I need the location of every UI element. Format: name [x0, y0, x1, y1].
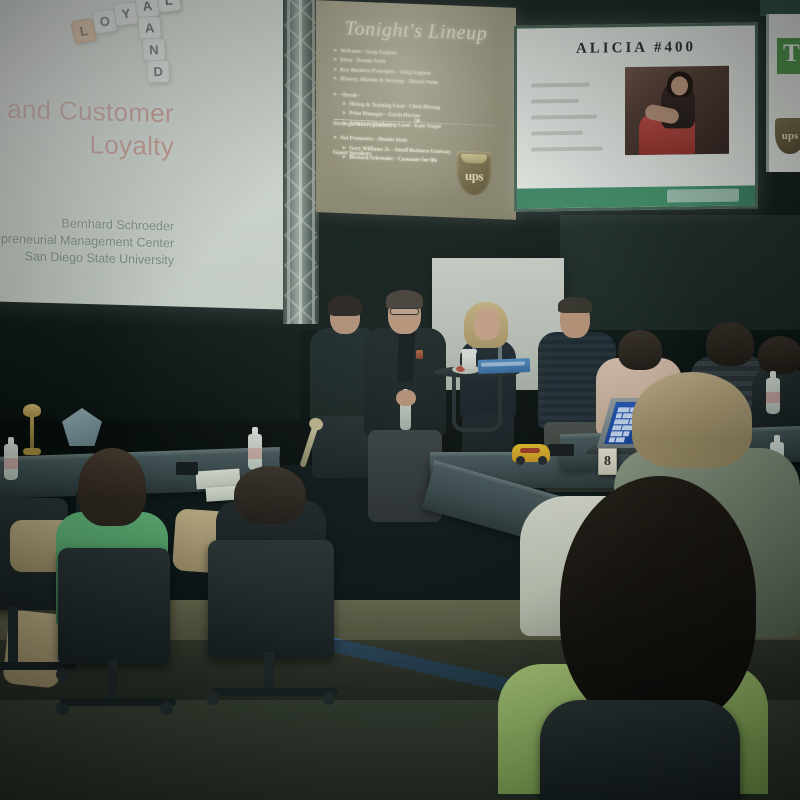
chair-caster: [56, 668, 69, 681]
chair-caster: [56, 702, 69, 715]
projection-screen-lineup-slide: Tonight's Lineup ➤Welcome - Greg Gagnon …: [316, 0, 516, 220]
toy-car-stripe: [520, 448, 540, 453]
eyeglasses-icon: [390, 308, 419, 315]
snack-box: [478, 358, 530, 374]
alicia-slide-footer-bar: [517, 185, 755, 208]
attendee-hair: [706, 322, 754, 366]
truss-shading: [283, 0, 319, 324]
chair-post: [108, 660, 118, 702]
green-logo-box: T: [777, 38, 800, 74]
coffee-cup: [462, 352, 476, 369]
grey-shirt-hair: [632, 372, 752, 468]
chair-caster: [322, 692, 335, 705]
panelist-2-hair: [386, 290, 423, 309]
alicia-photo: [625, 66, 729, 155]
dark-jacket-hair: [234, 466, 306, 524]
brass-lamp: [22, 404, 42, 456]
lamp-base: [23, 448, 41, 455]
title-slide-heading: and Customer Loyalty: [0, 89, 180, 163]
lamp-stem: [30, 416, 34, 448]
bottle-label: [4, 458, 18, 469]
projection-screen-right-partial: T ups: [766, 14, 800, 172]
alicia-slide-title: ALICIA #400: [517, 38, 755, 58]
tile-L2: L: [156, 0, 182, 13]
projection-screen-alicia-slide: ALICIA #400: [514, 22, 758, 211]
attendee-hair: [618, 330, 662, 370]
curly-hair: [560, 476, 756, 726]
chair-caster: [160, 702, 173, 715]
office-chair: [540, 700, 740, 800]
chair-post: [264, 652, 274, 692]
chair-caster: [206, 692, 219, 705]
cup-lid: [461, 349, 477, 354]
office-chair: [58, 548, 170, 664]
panelist-1-hair: [328, 295, 362, 316]
panelist-3-head: [474, 308, 500, 340]
chair-base: [60, 698, 176, 706]
toy-car-wheel: [538, 456, 547, 465]
left-lower-wall: [0, 300, 300, 420]
text-line: [531, 83, 590, 88]
conference-photo: L O Y A L A N D and Customer Loyalty Ber…: [0, 0, 800, 800]
snack-box-label: [481, 361, 525, 367]
footer-logo-placeholder: [667, 189, 739, 203]
attendee-hair: [758, 336, 800, 374]
panelist-4-hair: [558, 297, 592, 313]
logo-letter: T: [783, 40, 800, 68]
water-bottle: [766, 378, 780, 414]
ups-logo-icon-right: ups: [775, 118, 800, 154]
water-bottle: [4, 444, 18, 480]
tile-A-vertical: A: [137, 16, 162, 40]
projector-glow: [316, 0, 516, 220]
panelist-2-hand: [396, 390, 416, 406]
chair-post: [8, 606, 18, 668]
text-line: [531, 146, 603, 151]
remote-control: [548, 444, 574, 456]
phone-on-table: [176, 462, 198, 475]
tile-N: N: [142, 38, 166, 62]
tile-D: D: [146, 60, 170, 83]
panelist-2-lapel: [397, 330, 416, 383]
table-number-card-8: 8: [598, 448, 617, 475]
title-slide-byline: Bernhard Schroeder ntrepreneurial Manage…: [0, 210, 180, 269]
green-shirt-hair: [78, 448, 146, 526]
text-line: [531, 115, 597, 120]
refreshment-table-legs: [452, 374, 502, 432]
text-line: [531, 99, 579, 104]
toy-car-wheel: [516, 456, 525, 465]
water-bottle: [248, 434, 262, 470]
title-line-1: and Customer: [0, 89, 174, 130]
projection-screen-title-slide: L O Y A L A N D and Customer Loyalty Ber…: [0, 0, 292, 310]
loyalty-letter-tiles: L O Y A L A N D: [69, 0, 206, 68]
alicia-slide-text-block: [531, 82, 613, 163]
office-chair: [208, 540, 334, 658]
alicia-slide-body: ALICIA #400: [517, 25, 755, 208]
bottle-label: [248, 448, 262, 459]
chair-base: [212, 688, 338, 696]
ups-logo-text-right: ups: [775, 130, 800, 142]
toy-car: [512, 444, 550, 462]
lapel-pin-icon: [416, 350, 423, 359]
bottle-label: [766, 392, 780, 403]
text-line: [531, 131, 583, 136]
